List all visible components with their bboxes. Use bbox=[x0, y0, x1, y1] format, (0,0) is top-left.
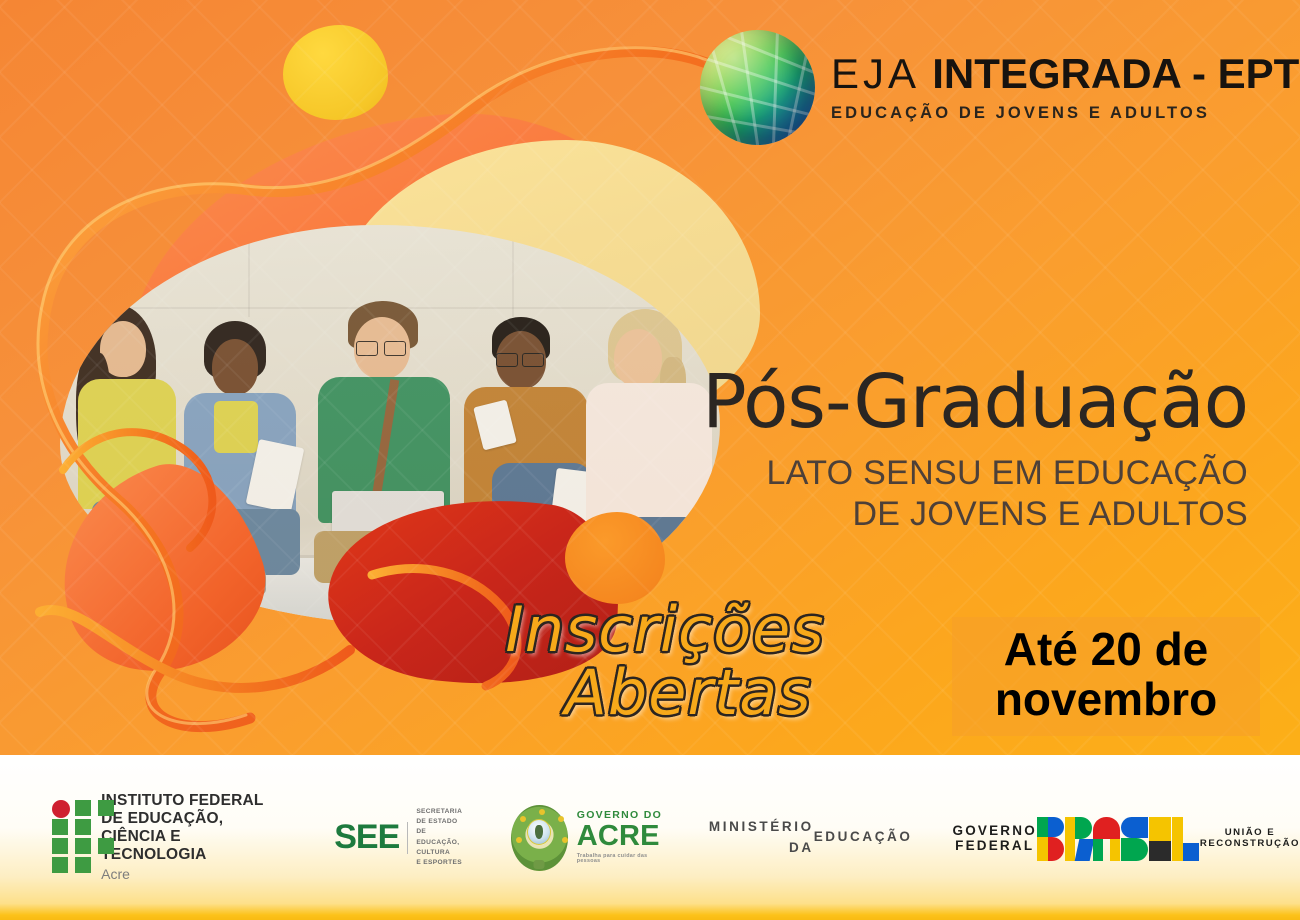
see-wordmark: SEE bbox=[334, 818, 399, 857]
ifac-line-1: INSTITUTO FEDERAL bbox=[101, 792, 280, 810]
acre-line-2: ACRE bbox=[577, 822, 665, 851]
script-line-2: Abertas bbox=[430, 661, 900, 724]
brand-title-bold: INTEGRADA - EPT bbox=[932, 50, 1299, 97]
inscriptions-open-text: Inscrições Abertas bbox=[430, 598, 900, 724]
mec-line-2: EDUCAÇÃO bbox=[814, 827, 913, 847]
mec-logo: MINISTÉRIO DA EDUCAÇÃO bbox=[709, 817, 913, 858]
ifac-logo: INSTITUTO FEDERAL DE EDUCAÇÃO, CIÊNCIA E… bbox=[52, 792, 280, 882]
brasil-wordmark-icon bbox=[1037, 815, 1200, 861]
deadline-line-1: Até 20 de bbox=[962, 625, 1250, 675]
brand-subtitle: EDUCAÇÃO DE JOVENS E ADULTOS bbox=[831, 104, 1299, 123]
see-sub-line-3: E ESPORTES bbox=[416, 858, 463, 868]
acre-coat-of-arms-icon bbox=[511, 805, 568, 871]
brasil-line-2: UNIÃO E RECONSTRUÇÃO bbox=[1200, 827, 1300, 849]
see-sub-line-1: SECRETARIA DE ESTADO bbox=[416, 807, 463, 827]
page-subtitle: LATO SENSU EM EDUCAÇÃO DE JOVENS E ADULT… bbox=[648, 453, 1248, 536]
script-line-1: Inscrições bbox=[505, 593, 824, 666]
brasil-line-1: GOVERNO FEDERAL bbox=[953, 823, 1037, 853]
acre-government-logo: GOVERNO DO ACRE Trabalha para cuidar das… bbox=[511, 805, 665, 871]
ifac-line-3: Acre bbox=[101, 866, 280, 882]
headline-block: Pós-Graduação LATO SENSU EM EDUCAÇÃO DE … bbox=[648, 365, 1248, 536]
brand-title: EJA INTEGRADA - EPT bbox=[831, 53, 1299, 95]
subtitle-line-2: DE JOVENS E ADULTOS bbox=[648, 494, 1248, 535]
acre-tagline: Trabalha para cuidar das pessoas bbox=[577, 854, 665, 865]
eja-logo: EJA INTEGRADA - EPT EDUCAÇÃO DE JOVENS E… bbox=[700, 30, 1299, 145]
subtitle-line-1: LATO SENSU EM EDUCAÇÃO bbox=[648, 453, 1248, 494]
see-sub-line-2: DE EDUCAÇÃO, CULTURA bbox=[416, 827, 463, 858]
see-subtitle: SECRETARIA DE ESTADO DE EDUCAÇÃO, CULTUR… bbox=[416, 807, 463, 868]
see-divider bbox=[407, 822, 408, 854]
eja-globe-icon bbox=[700, 30, 815, 145]
ifac-grid-icon bbox=[52, 800, 87, 874]
footer-logo-bar: INSTITUTO FEDERAL DE EDUCAÇÃO, CIÊNCIA E… bbox=[0, 755, 1300, 920]
brand-title-thin: EJA bbox=[831, 50, 920, 97]
see-logo: SEE SECRETARIA DE ESTADO DE EDUCAÇÃO, CU… bbox=[334, 807, 463, 868]
deadline-badge: Até 20 de novembro bbox=[952, 617, 1260, 736]
page-title: Pós-Graduação bbox=[648, 365, 1248, 439]
brasil-federal-logo: GOVERNO FEDERAL bbox=[953, 811, 1300, 864]
poster-banner: EJA INTEGRADA - EPT EDUCAÇÃO DE JOVENS E… bbox=[0, 0, 1300, 920]
mec-line-1: MINISTÉRIO DA bbox=[709, 817, 814, 858]
ifac-line-2: DE EDUCAÇÃO, CIÊNCIA E TECNOLOGIA bbox=[101, 810, 280, 864]
deadline-line-2: novembro bbox=[962, 675, 1250, 725]
